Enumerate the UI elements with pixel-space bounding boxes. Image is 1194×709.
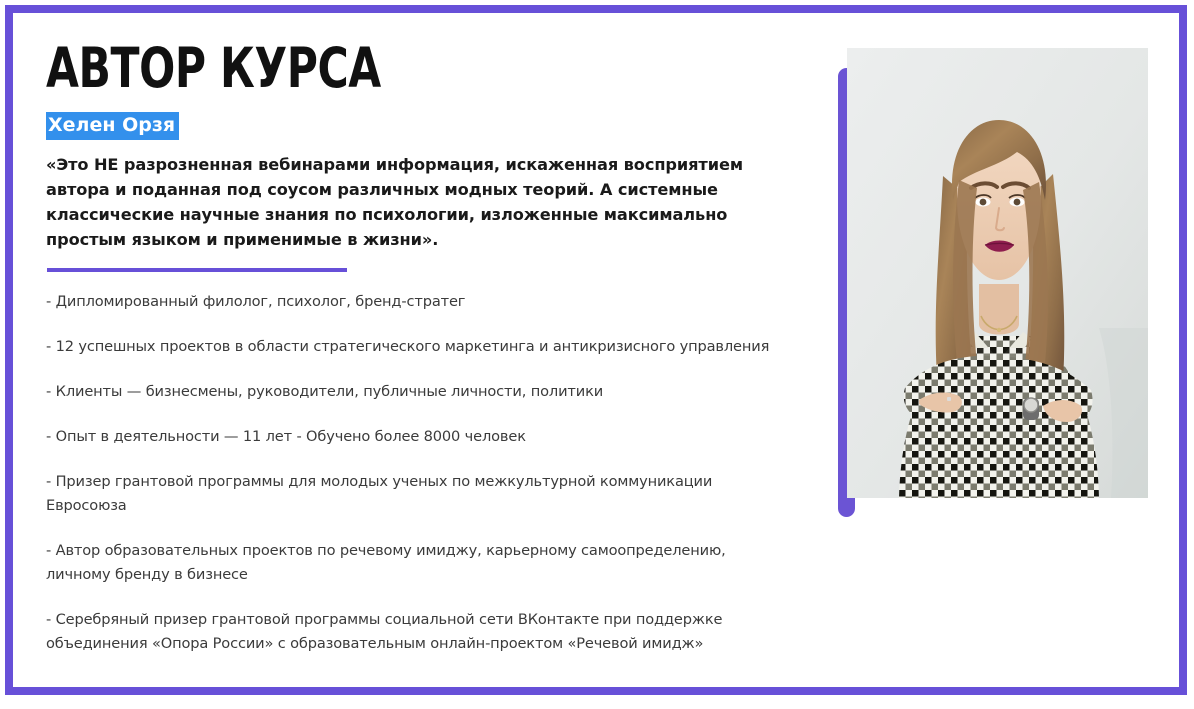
- list-item: - Дипломированный филолог, психолог, бре…: [46, 290, 781, 314]
- slide-canvas: АВТОР КУРСА Хелен Орзя «Это НЕ разрознен…: [0, 0, 1194, 709]
- author-portrait-illustration: Портрет автора курса: женщина со сложенн…: [847, 48, 1148, 498]
- list-item: - Автор образовательных проектов по рече…: [46, 539, 781, 587]
- author-content-column: АВТОР КУРСА Хелен Орзя «Это НЕ разрознен…: [46, 40, 806, 656]
- list-item: - Призер грантовой программы для молодых…: [46, 470, 781, 518]
- section-divider: [47, 268, 347, 272]
- author-quote: «Это НЕ разрозненная вебинарами информац…: [46, 152, 781, 252]
- list-item: - Опыт в деятельности — 11 лет - Обучено…: [46, 425, 781, 449]
- author-photo: Портрет автора курса: женщина со сложенн…: [847, 48, 1148, 498]
- list-item: - Серебряный призер грантовой программы …: [46, 608, 781, 656]
- author-name-highlight: Хелен Орзя: [46, 112, 179, 140]
- author-name-row: Хелен Орзя: [46, 112, 806, 140]
- page-title: АВТОР КУРСА: [46, 40, 700, 96]
- list-item: - Клиенты — бизнесмены, руководители, пу…: [46, 380, 781, 404]
- author-credentials-list: - Дипломированный филолог, психолог, бре…: [46, 290, 806, 656]
- list-item: - 12 успешных проектов в области стратег…: [46, 335, 781, 359]
